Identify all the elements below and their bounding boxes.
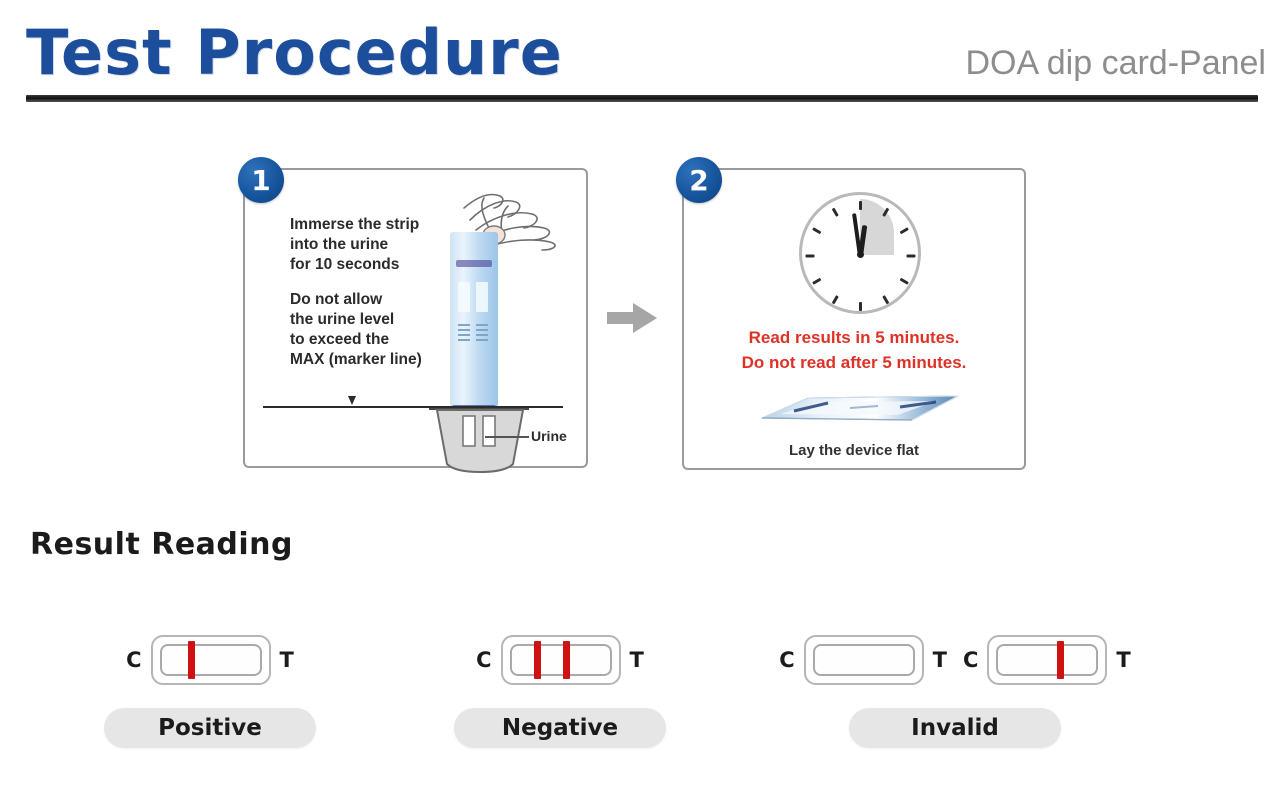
result-window (996, 644, 1098, 676)
warning-line-2: Do not read after 5 minutes. (684, 350, 1024, 375)
result-label-negative: Negative (454, 708, 666, 748)
result-label-positive: Positive (104, 708, 316, 748)
urine-leader-line (485, 436, 529, 438)
control-letter: C (476, 648, 491, 672)
step-1-paragraph-2: Do not allowthe urine levelto exceed the… (290, 290, 422, 370)
result-group-invalid: C T C T Invalid (745, 630, 1165, 748)
dip-card-illustration (450, 232, 498, 407)
step-1-paragraph-1: Immerse the stripinto the urinefor 10 se… (290, 215, 422, 275)
slide-canvas: Test Procedure DOA dip card-Panel 1 Imme… (0, 0, 1280, 807)
step-2-caption: Lay the device flat (684, 442, 1024, 459)
step-2-warning: Read results in 5 minutes. Do not read a… (684, 325, 1024, 375)
test-cassette-negative (501, 635, 621, 685)
page-title: Test Procedure (26, 16, 563, 89)
result-group-positive: C T Positive (100, 630, 320, 748)
clock-icon (799, 192, 921, 314)
result-label-invalid: Invalid (849, 708, 1061, 748)
cassette-pair-negative: C T (450, 630, 670, 690)
step-panel-1: Immerse the stripinto the urinefor 10 se… (243, 168, 588, 468)
cassette-row-invalid-a: C T (779, 630, 947, 690)
control-letter: C (126, 648, 141, 672)
control-letter: C (963, 648, 978, 672)
test-cassette-invalid-test-only (987, 635, 1107, 685)
result-band-test (563, 641, 570, 679)
step-number-badge-1: 1 (238, 157, 284, 203)
test-letter: T (280, 648, 294, 672)
result-window (160, 644, 262, 676)
result-band-control (534, 641, 541, 679)
cassette-row-invalid-b: C T (963, 630, 1131, 690)
test-letter: T (1116, 648, 1130, 672)
header-divider (26, 95, 1258, 102)
test-cassette-invalid-blank (804, 635, 924, 685)
result-band-control (188, 641, 195, 679)
header: Test Procedure DOA dip card-Panel (0, 0, 1280, 112)
result-window (510, 644, 612, 676)
arrow-right-icon (607, 300, 659, 336)
step-1-instructions: Immerse the stripinto the urinefor 10 se… (290, 215, 422, 370)
result-reading-section: C T Positive C T (0, 630, 1280, 780)
device-flat-illustration (750, 382, 965, 434)
cassette-pair-positive: C T (100, 630, 320, 690)
max-marker-line (263, 406, 563, 408)
page-subtitle: DOA dip card-Panel (966, 44, 1267, 83)
warning-line-1: Read results in 5 minutes. (684, 325, 1024, 350)
cassette-pair-invalid: C T C T (745, 630, 1165, 690)
control-letter: C (779, 648, 794, 672)
max-marker-arrow-icon (348, 396, 356, 405)
result-reading-heading: Result Reading (30, 527, 293, 562)
step-number-badge-2: 2 (676, 157, 722, 203)
result-group-negative: C T Negative (450, 630, 670, 748)
result-window (813, 644, 915, 676)
test-letter: T (933, 648, 947, 672)
test-cassette-positive (151, 635, 271, 685)
clock-center-pin (857, 251, 864, 258)
urine-cup-illustration (425, 402, 535, 474)
test-letter: T (630, 648, 644, 672)
urine-label: Urine (531, 428, 567, 444)
step-panel-2: Read results in 5 minutes. Do not read a… (682, 168, 1026, 470)
result-band-test (1057, 641, 1064, 679)
